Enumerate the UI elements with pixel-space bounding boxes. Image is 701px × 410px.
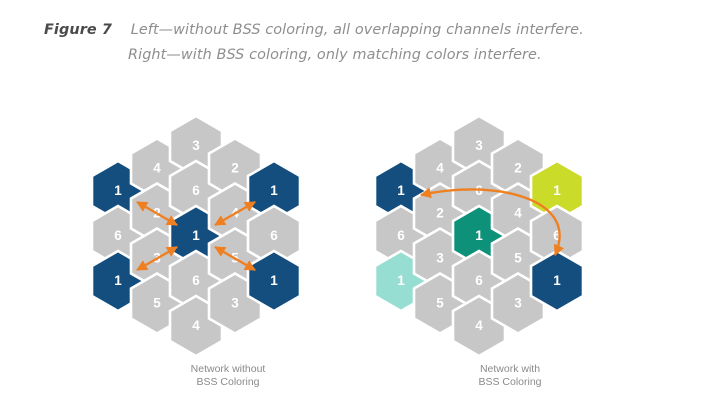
hex-shape: [531, 251, 583, 311]
hex-grid-left: 1614235361642453161: [88, 112, 338, 357]
hex-cell[interactable]: 1: [531, 251, 583, 311]
hex-cells: 1614235361642453161: [92, 116, 300, 356]
hex-cells: 1614235361642453161: [375, 116, 583, 356]
footer-right-line-2: BSS Coloring: [410, 376, 610, 389]
footer-left-line-1: Network without: [128, 363, 328, 376]
hex-shape: [248, 251, 300, 311]
footer-label-left: Network without BSS Coloring: [128, 363, 328, 389]
caption-text-1: Left—without BSS coloring, all overlappi…: [131, 22, 584, 38]
footer-left-line-2: BSS Coloring: [128, 376, 328, 389]
figure-caption: Figure 7 Left—without BSS coloring, all …: [0, 22, 701, 63]
hex-cell[interactable]: 1: [248, 251, 300, 311]
caption-line-2: Right—with BSS coloring, only matching c…: [128, 47, 701, 63]
diagram-network-with-bss-coloring: 1614235361642453161: [371, 112, 621, 357]
footer-label-right: Network with BSS Coloring: [410, 363, 610, 389]
footer-right-line-1: Network with: [410, 363, 610, 376]
hex-grid-right: 1614235361642453161: [371, 112, 621, 357]
caption-line-1: Figure 7 Left—without BSS coloring, all …: [44, 22, 701, 38]
figure-number: Figure 7: [44, 22, 112, 38]
diagram-network-without-bss-coloring: 1614235361642453161: [88, 112, 338, 357]
